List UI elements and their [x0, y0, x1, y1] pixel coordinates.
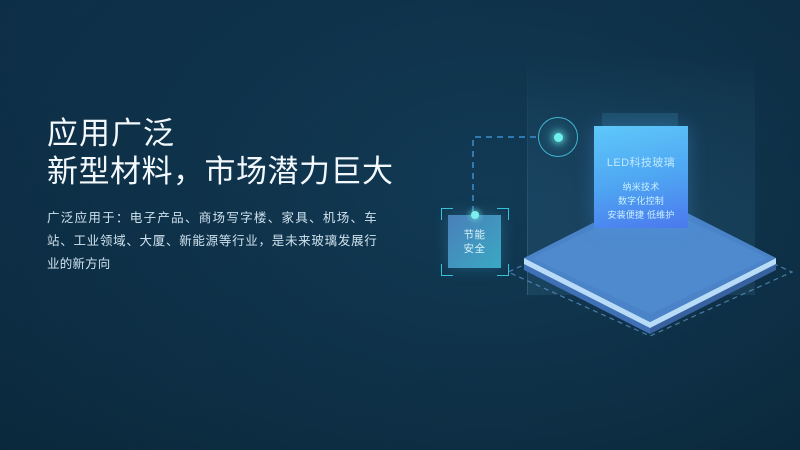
- slide-canvas: LED科技玻璃 纳米技术 数字化控制 安装便捷 低维护 节能 安全 应用广泛 新…: [0, 0, 800, 450]
- connector-dot-icon: [471, 211, 479, 219]
- headline-line-2: 新型材料，市场潜力巨大: [47, 153, 467, 191]
- page-title: 应用广泛 新型材料，市场潜力巨大: [47, 115, 467, 191]
- glow-node-icon: [538, 117, 578, 157]
- body-paragraph: 广泛应用于：电子产品、商场写字楼、家具、机场、车站、工业领域、大厦、新能源等行业…: [47, 207, 377, 276]
- glow-node-core-icon: [554, 133, 563, 142]
- text-block: 应用广泛 新型材料，市场潜力巨大 广泛应用于：电子产品、商场写字楼、家具、机场、…: [47, 115, 467, 276]
- headline-line-1: 应用广泛: [47, 115, 467, 153]
